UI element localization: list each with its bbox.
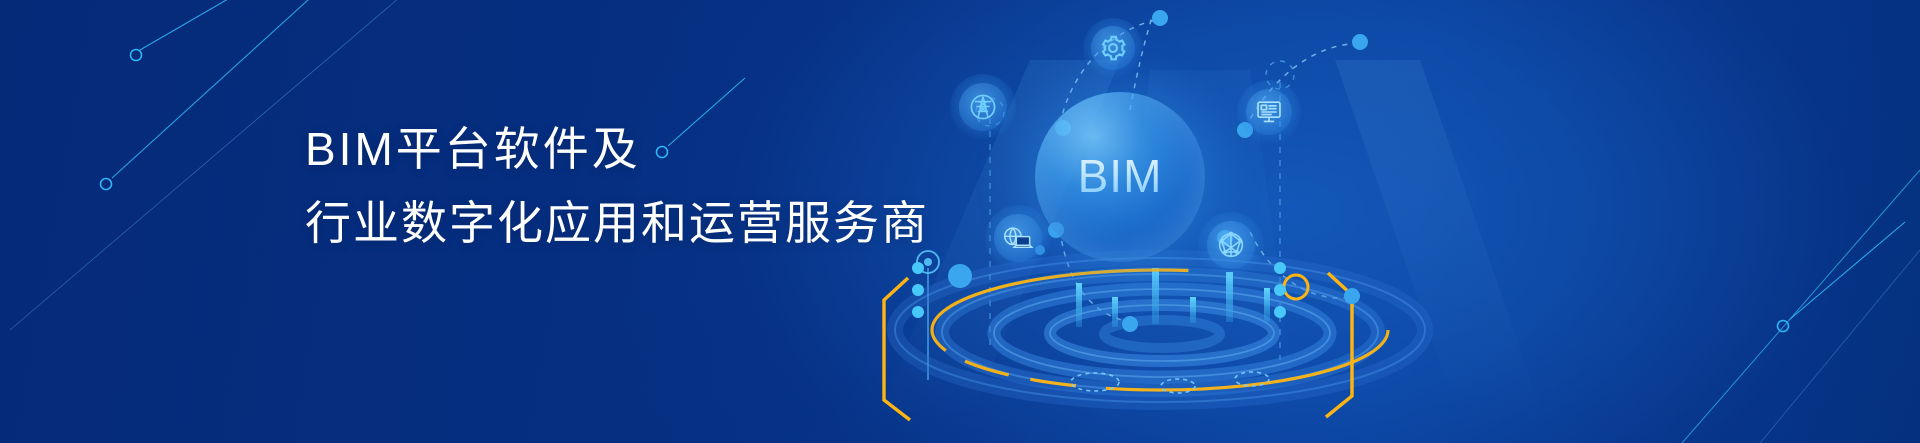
globe-laptop-icon	[1001, 222, 1035, 254]
screen-icon	[1254, 97, 1284, 127]
deco-line-left-1	[140, 0, 247, 50]
hero-headline: BIM平台软件及 行业数字化应用和运营服务商	[305, 112, 929, 260]
deco-line-left-2	[112, 0, 330, 178]
deco-dot-left-2	[101, 179, 112, 190]
network-icon	[1215, 229, 1247, 261]
deco-dot-left-1	[131, 50, 142, 61]
dots-cluster-left	[912, 262, 924, 318]
headline-line-1: BIM平台软件及	[305, 112, 929, 186]
platform-rings	[895, 258, 1425, 402]
tower-icon-bubble	[950, 74, 1016, 140]
screen-icon-bubble	[1237, 80, 1301, 144]
globe-laptop-icon-bubble	[985, 205, 1051, 271]
network-icon-bubble	[1198, 212, 1264, 278]
tower-icon	[967, 91, 999, 123]
hero-banner: BIM平台软件及 行业数字化应用和运营服务商	[0, 0, 1920, 443]
pin-ring-core	[924, 258, 932, 266]
bim-sphere-label: BIM	[1078, 149, 1163, 203]
bim-sphere: BIM	[1035, 92, 1205, 262]
headline-line-2: 行业数字化应用和运营服务商	[305, 186, 929, 260]
gear-icon-bubble	[1083, 18, 1143, 78]
dots-cluster-right	[1274, 262, 1286, 318]
gear-icon	[1098, 33, 1128, 63]
